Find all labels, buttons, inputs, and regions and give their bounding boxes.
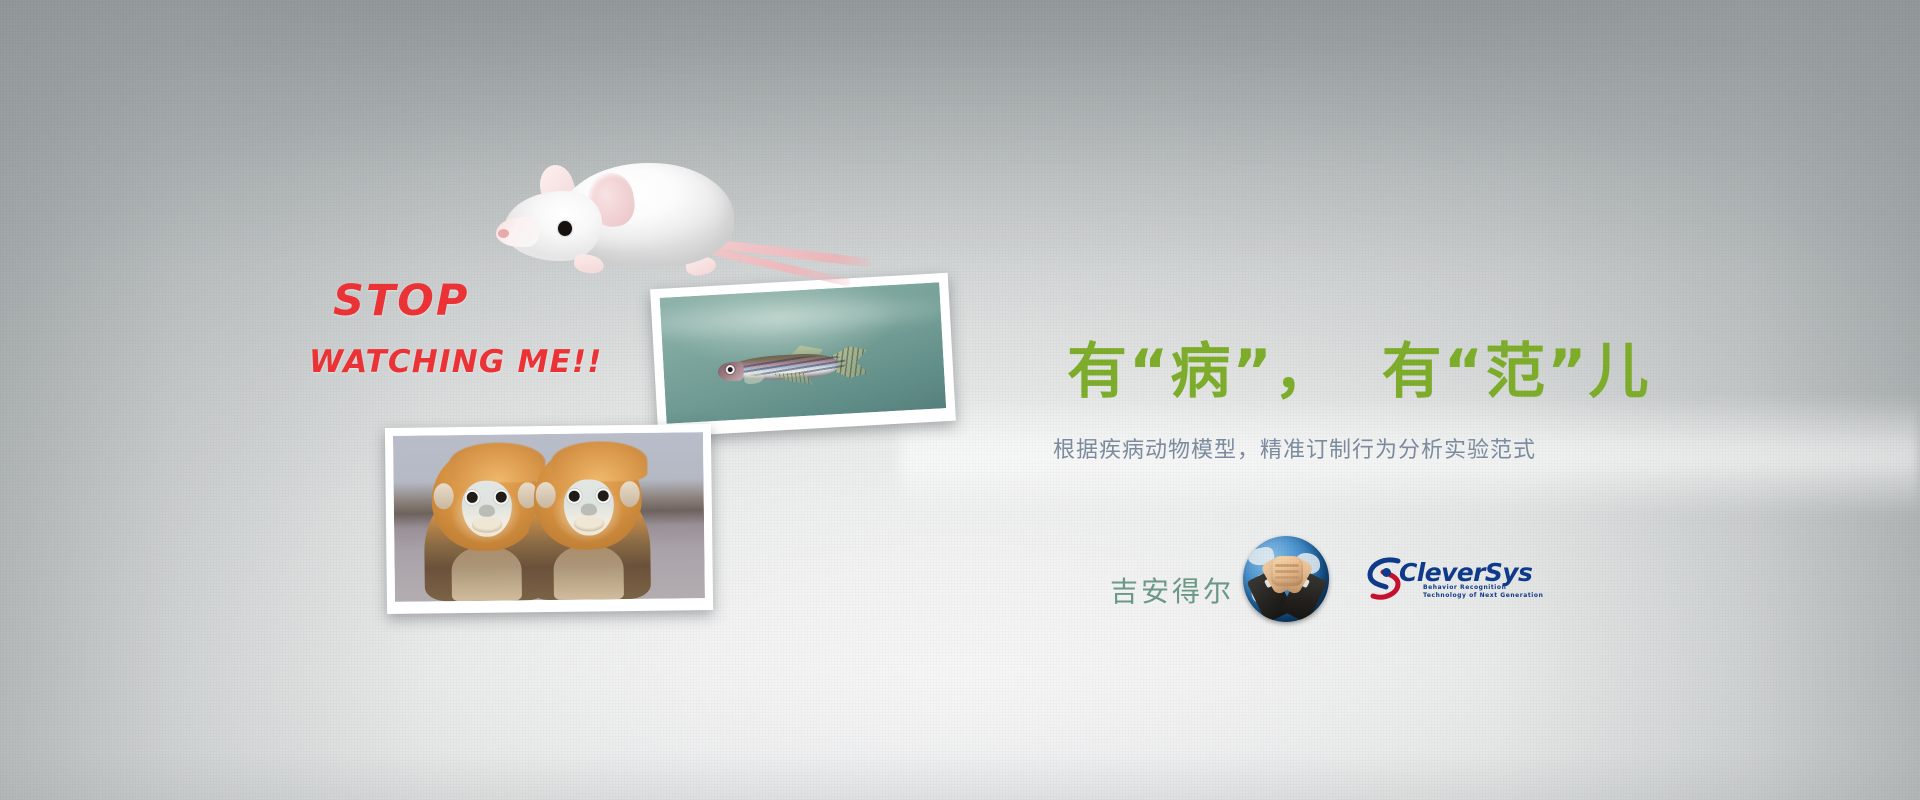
monkey-eye-left	[464, 489, 481, 506]
cleversys-wordmark: CleverSys	[1399, 558, 1532, 587]
monkey-ear-left	[536, 482, 556, 508]
globe-sphere	[1243, 536, 1329, 622]
brand-chinese-name: 吉安得尔	[1110, 570, 1234, 610]
monkey-face	[462, 480, 513, 537]
handshake-grip	[1271, 556, 1303, 586]
cleversys-tagline-line2: Technology of Next Generation	[1423, 592, 1543, 599]
mouse-nose	[498, 229, 509, 238]
monkey-ear-right	[620, 481, 640, 507]
callout-watching-me-text: WATCHING ME!!	[309, 344, 603, 380]
monkey-mouth	[472, 518, 502, 533]
handshake-icon	[1257, 550, 1317, 615]
headline-text: 有“病”， 有“范”儿	[1067, 342, 1651, 402]
monkey-crown-fur	[551, 441, 647, 482]
fish-pectoral-fin	[744, 372, 765, 384]
cleversys-swoosh-icon	[1367, 556, 1403, 600]
cleversys-tagline-line1: Behavior Recognition	[1423, 584, 1506, 591]
mouse-eye	[558, 221, 572, 236]
subtitle-text: 根据疾病动物模型，精准订制行为分析实验范式	[1053, 432, 1536, 464]
monkey-nose	[581, 503, 597, 515]
monkey-face	[564, 479, 615, 536]
monkey-mouth	[574, 516, 604, 531]
monkey-eye-left	[566, 488, 583, 505]
cleversys-logo[interactable]: CleverSys Behavior Recognition Technolog…	[1367, 556, 1503, 604]
monkey-eye-right	[595, 487, 612, 504]
photo-zebrafish-image	[660, 282, 947, 423]
cleversys-dot	[1382, 568, 1391, 577]
promo-banner: STOP WATCHING ME!!	[0, 0, 1920, 800]
photo-golden-monkeys	[385, 424, 713, 614]
callout-stop-text: STOP	[333, 276, 469, 326]
photo-zebrafish	[650, 273, 956, 437]
monkey-nose	[479, 505, 495, 517]
photo-golden-monkeys-image	[393, 432, 705, 602]
monkey-right	[521, 439, 655, 601]
monkey-ear-left	[434, 483, 454, 509]
monkey-eye-right	[493, 488, 510, 505]
photo-lab-mouse	[496, 147, 848, 287]
globe-handshake-logo[interactable]	[1243, 536, 1329, 622]
monkey-head	[533, 445, 642, 550]
